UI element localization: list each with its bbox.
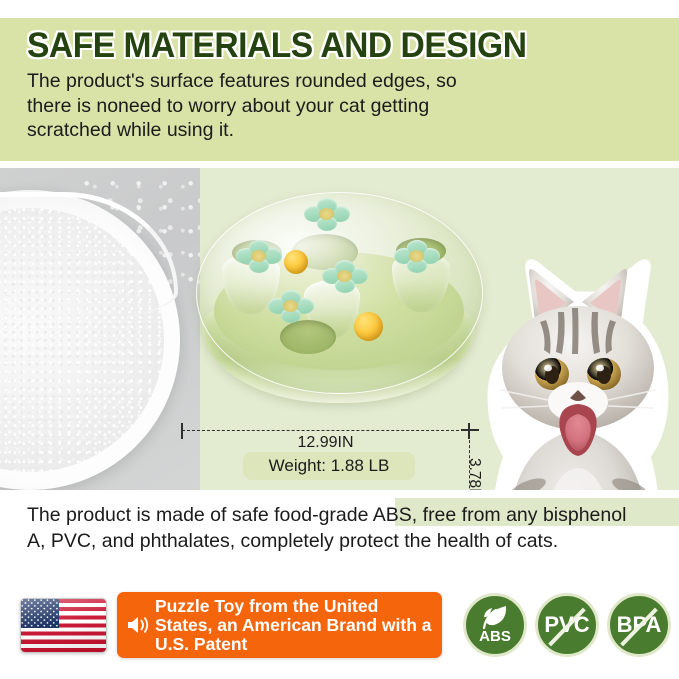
page-title: SAFE MATERIALS AND DESIGN — [27, 26, 526, 66]
width-dimension-line — [182, 430, 469, 432]
treat-ball — [354, 312, 383, 341]
product-infographic: SAFE MATERIALS AND DESIGN The product's … — [0, 0, 679, 679]
patent-banner: Puzzle Toy from the United States, an Am… — [117, 592, 442, 658]
flower-cover — [394, 240, 440, 274]
flower-cover — [236, 240, 282, 274]
flower-cover — [268, 290, 314, 324]
cert-badge-pvc: PVC — [535, 593, 599, 657]
treat-ball — [284, 250, 308, 274]
kitten-illustration — [478, 250, 678, 490]
bottom-section: The product is made of safe food-grade A… — [0, 490, 679, 679]
us-flag-icon — [20, 598, 107, 653]
flower-cover — [304, 198, 350, 232]
leaf-icon — [480, 604, 510, 630]
cert-label-abs: ABS — [466, 628, 524, 645]
cert-badge-abs: ABS — [463, 593, 527, 657]
badge-row: Puzzle Toy from the United States, an Am… — [0, 590, 679, 660]
patent-banner-text: Puzzle Toy from the United States, an Am… — [155, 597, 437, 654]
cert-badge-bpa: BPA — [607, 593, 671, 657]
flower-cover — [322, 260, 368, 294]
abs-pellets-photo — [0, 168, 200, 490]
width-dimension-label: 12.99IN — [182, 434, 469, 452]
material-description: The product is made of safe food-grade A… — [27, 502, 647, 554]
product-image — [196, 192, 481, 407]
header-subtitle: The product's surface features rounded e… — [27, 69, 497, 143]
speaker-icon — [126, 614, 150, 636]
kitten-photo — [478, 250, 678, 490]
weight-badge: Weight: 1.88 LB — [243, 452, 415, 480]
